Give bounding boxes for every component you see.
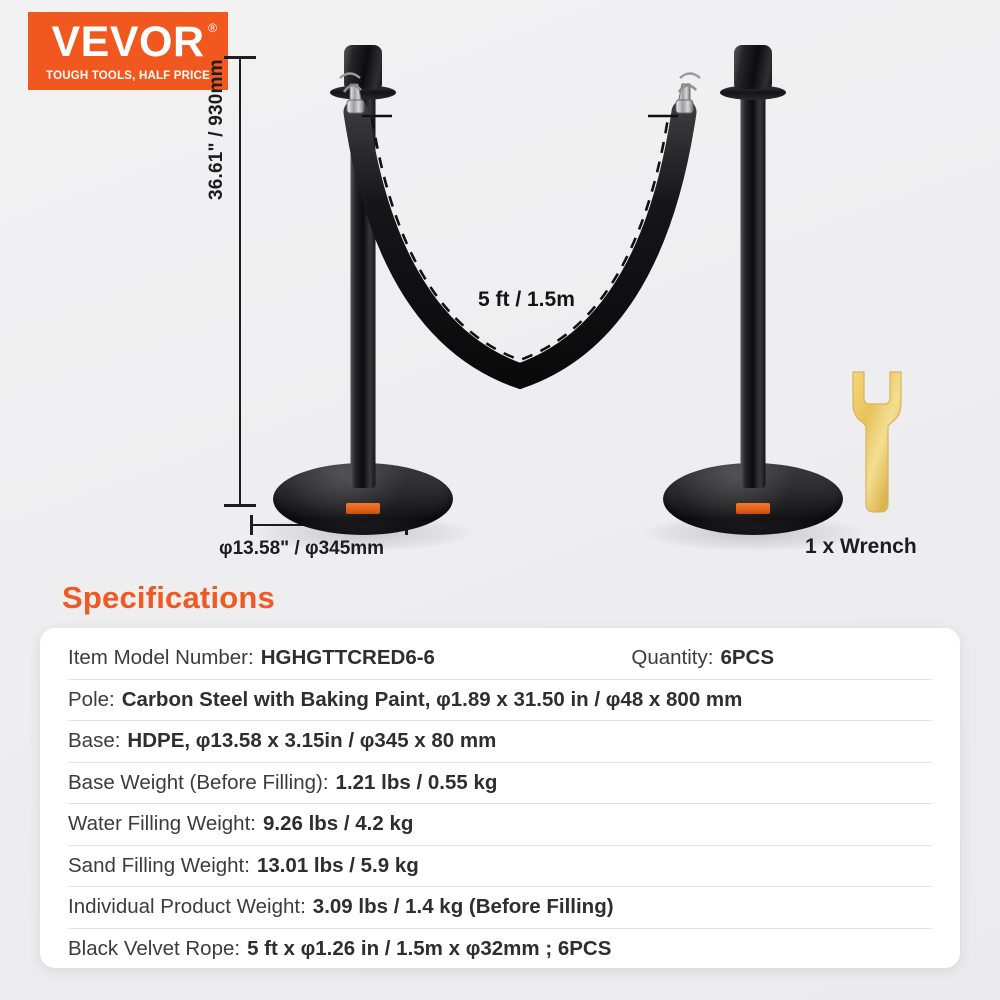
spec-label-rope: Black Velvet Rope: [68,937,240,961]
post-right-shaft [741,93,766,488]
vevor-logo: VEVOR® TOUGH TOOLS, HALF PRICE [28,12,228,90]
spec-label-pole: Pole: [68,688,115,712]
height-dimension-line [239,57,241,507]
spec-label-water-weight: Water Filling Weight: [68,812,256,836]
brand-tagline: TOUGH TOOLS, HALF PRICE [46,70,210,82]
spec-label-sand-weight: Sand Filling Weight: [68,854,250,878]
spec-row-sand-weight: Sand Filling Weight: 13.01 lbs / 5.9 kg [68,846,932,888]
spec-value-quantity: 6PCS [720,646,774,670]
stanchion-post-left [298,45,428,515]
brand-name-text: VEVOR [51,18,204,66]
post-right-base-badge [736,503,770,514]
spec-value-base-weight: 1.21 lbs / 0.55 kg [336,771,498,795]
spec-value-water-weight: 9.26 lbs / 4.2 kg [263,812,413,836]
rope-length-label: 5 ft / 1.5m [478,288,575,312]
spec-label-model: Item Model Number: [68,646,254,670]
spec-label-product-weight: Individual Product Weight: [68,895,306,919]
spec-label-base-weight: Base Weight (Before Filling): [68,771,329,795]
spec-row-rope: Black Velvet Rope: 5 ft x φ1.26 in / 1.5… [68,929,932,970]
product-spec-image: VEVOR® TOUGH TOOLS, HALF PRICE 36.61" / … [0,0,1000,1000]
stanchion-post-right [688,45,818,515]
post-left-cap [344,45,382,89]
height-dimension-label: 36.61" / 930mm [206,59,228,200]
spec-value-rope: 5 ft x φ1.26 in / 1.5m x φ32mm ; 6PCS [247,937,611,961]
spec-row-pole: Pole: Carbon Steel with Baking Paint, φ1… [68,680,932,722]
wrench-caption: 1 x Wrench [805,535,917,559]
height-dimension-bottom-cap [224,504,256,507]
post-right-cap [734,45,772,89]
spec-value-sand-weight: 13.01 lbs / 5.9 kg [257,854,419,878]
post-left-shaft [351,93,376,488]
specifications-heading: Specifications [62,580,275,616]
spec-value-base: HDPE, φ13.58 x 3.15in / φ345 x 80 mm [127,729,496,753]
brand-name: VEVOR® [51,21,204,64]
spec-label-base: Base: [68,729,120,753]
spec-row-base: Base: HDPE, φ13.58 x 3.15in / φ345 x 80 … [68,721,932,763]
registered-mark-icon: ® [208,22,217,34]
spec-value-pole: Carbon Steel with Baking Paint, φ1.89 x … [122,688,743,712]
spec-value-product-weight: 3.09 lbs / 1.4 kg (Before Filling) [313,895,614,919]
spec-row-water-weight: Water Filling Weight: 9.26 lbs / 4.2 kg [68,804,932,846]
spec-label-quantity: Quantity: [631,646,713,670]
spec-row-product-weight: Individual Product Weight: 3.09 lbs / 1.… [68,887,932,929]
post-left-base-badge [346,503,380,514]
spec-value-model: HGHGTTCRED6-6 [261,646,435,670]
wrench-icon [853,372,901,512]
spec-quantity-group: Quantity: 6PCS [631,646,932,670]
spec-row-model: Item Model Number: HGHGTTCRED6-6 Quantit… [68,638,932,680]
specifications-card: Item Model Number: HGHGTTCRED6-6 Quantit… [40,628,960,968]
spec-row-base-weight: Base Weight (Before Filling): 1.21 lbs /… [68,763,932,805]
